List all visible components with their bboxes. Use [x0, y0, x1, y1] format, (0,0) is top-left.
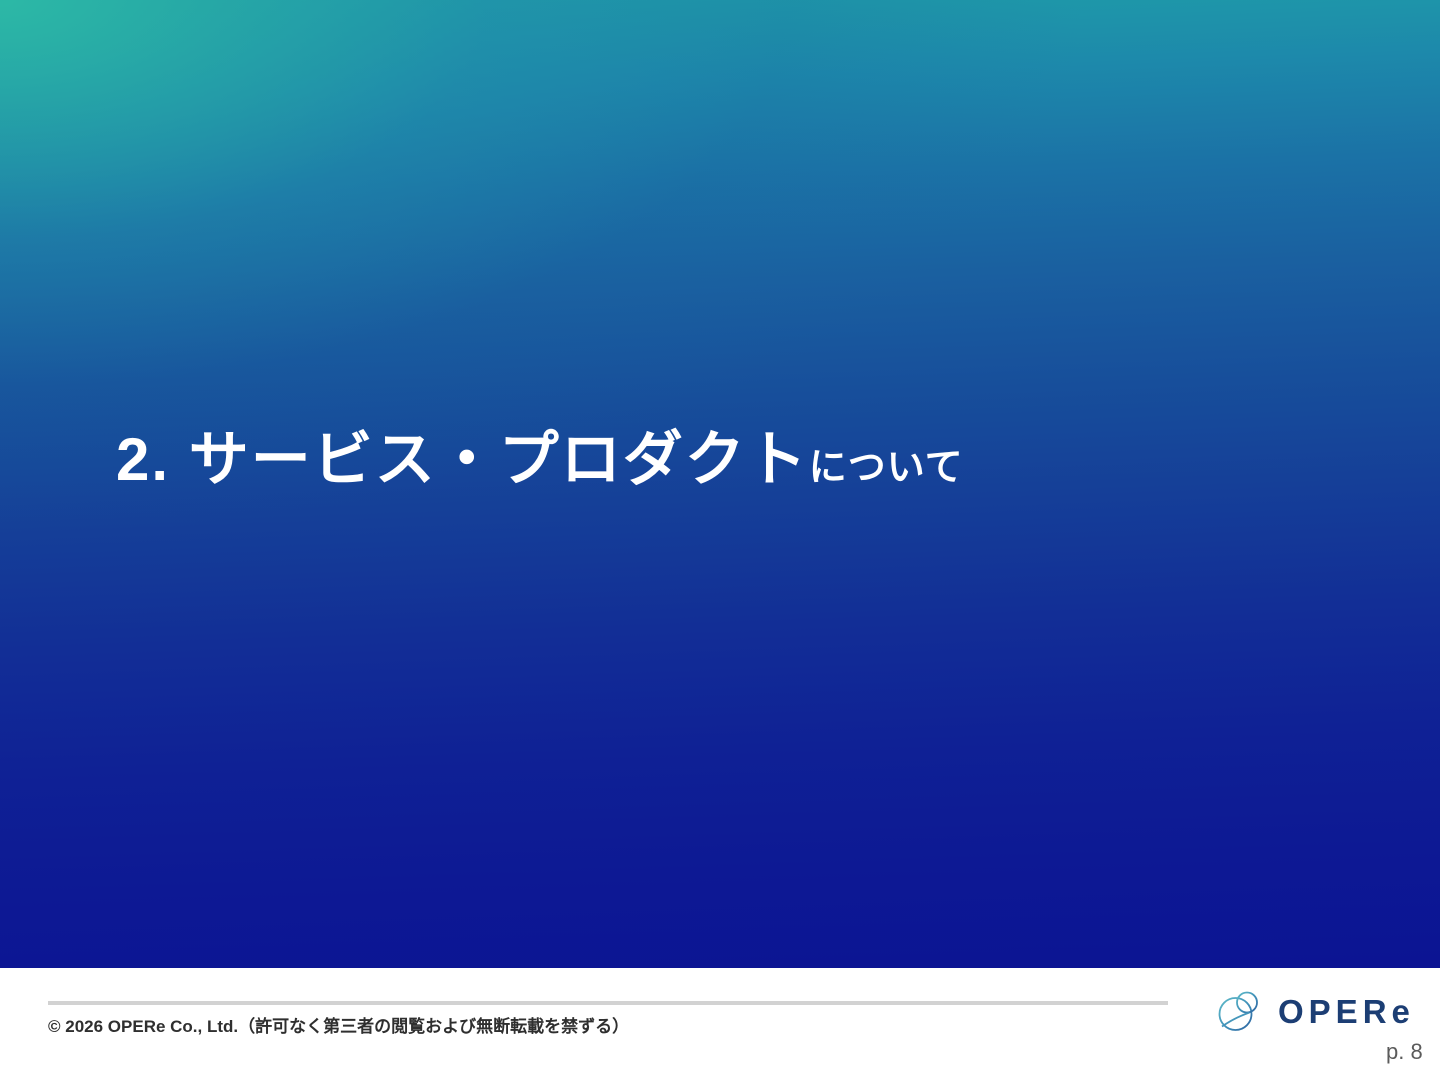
page-title-main: 2. サービス・プロダクト [116, 426, 809, 493]
copyright-notice: © 2026 OPERe Co., Ltd.（許可なく第三者の閲覧および無断転載… [48, 1012, 629, 1037]
slide-root: 2. サービス・プロダクトについて © 2026 OPERe Co., Ltd.… [0, 0, 1440, 1080]
page-number: p. 8 [1386, 1039, 1423, 1065]
opere-circle-crosshair-icon [1216, 988, 1262, 1034]
opere-wordmark: OPERe [1278, 995, 1415, 1028]
page-title-suffix: について [809, 447, 964, 489]
page-title: 2. サービス・プロダクトについて [116, 430, 964, 490]
opere-logo: OPERe [1216, 988, 1415, 1034]
footer-divider [48, 1001, 1168, 1005]
